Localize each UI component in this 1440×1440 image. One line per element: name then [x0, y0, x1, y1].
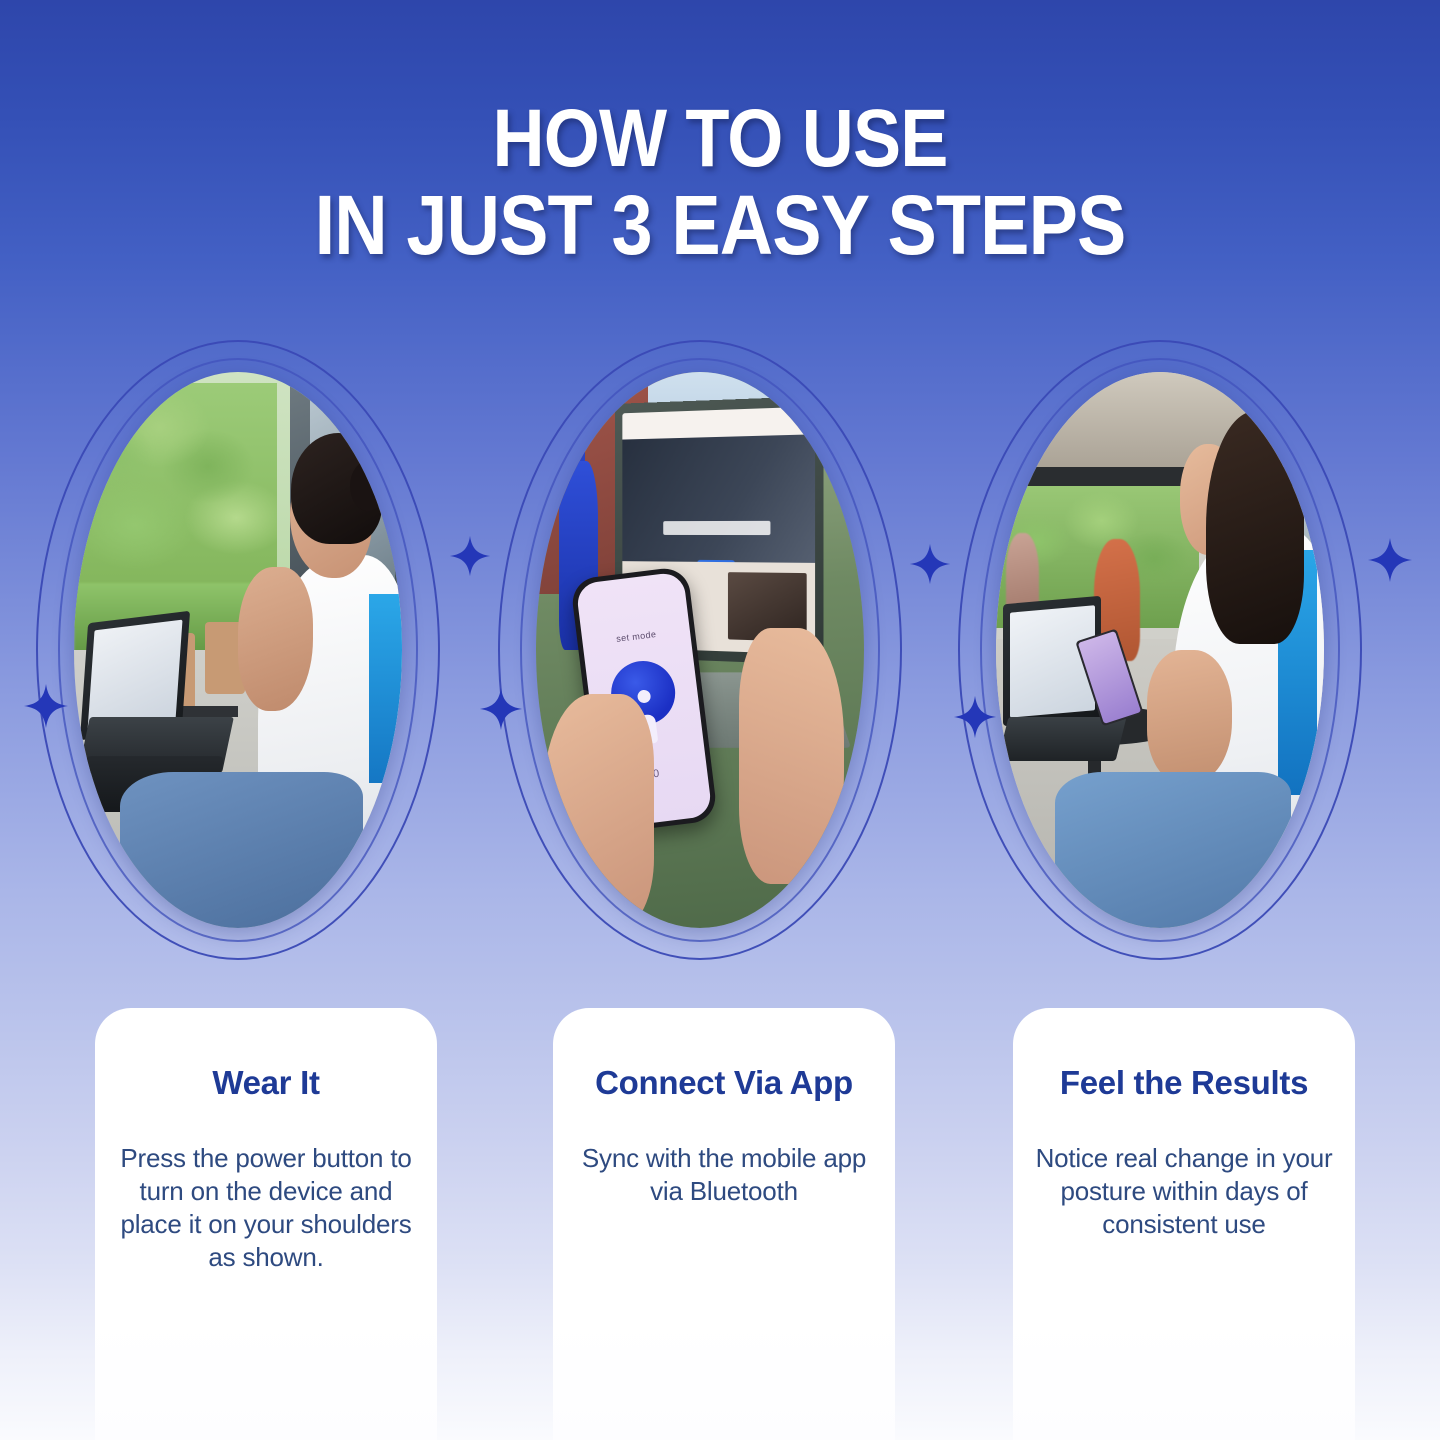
step-card-3-title: Feel the Results [1031, 1064, 1337, 1102]
step-2-photo: set mode 10 [536, 372, 864, 928]
step-card-1-body: Press the power button to turn on the de… [113, 1142, 419, 1274]
page-title-line-1: HOW TO USE [86, 96, 1353, 182]
steps-card-row: Wear It Press the power button to turn o… [0, 1008, 1440, 1440]
photo-person-jeans [1055, 772, 1291, 928]
photo-frame-step-3 [958, 340, 1362, 960]
photo-site-hero-text [664, 521, 771, 536]
photo-person-arm [238, 567, 313, 712]
photo-right-hand [739, 628, 844, 884]
four-point-sparkle-icon [448, 534, 492, 578]
step-3-photo [996, 372, 1324, 928]
photo-person-jeans [120, 772, 363, 928]
photo-phone-screen-label: set mode [582, 625, 690, 648]
step-1-photo [74, 372, 402, 928]
page-title-line-2: IN JUST 3 EASY STEPS [86, 182, 1353, 268]
step-card-2-body: Sync with the mobile app via Bluetooth [571, 1142, 877, 1208]
photo-person-hair [1206, 411, 1304, 645]
page-title: HOW TO USE IN JUST 3 EASY STEPS [0, 96, 1440, 268]
photo-scene-phone-app: set mode 10 [536, 372, 864, 928]
step-card-2-title: Connect Via App [571, 1064, 877, 1102]
photo-left-hand [543, 694, 655, 928]
photo-person-arm [1147, 650, 1232, 783]
photo-frame-step-1 [36, 340, 440, 960]
four-point-sparkle-icon [952, 694, 998, 740]
photo-shirt-graphic [369, 594, 402, 783]
step-card-3-body: Notice real change in your posture withi… [1031, 1142, 1337, 1241]
step-card-2: Connect Via App Sync with the mobile app… [553, 1008, 895, 1440]
step-card-3: Feel the Results Notice real change in y… [1013, 1008, 1355, 1440]
photo-person-hair-bun [350, 461, 386, 511]
four-point-sparkle-icon [22, 682, 70, 730]
four-point-sparkle-icon [1366, 536, 1414, 584]
four-point-sparkle-icon [908, 542, 952, 586]
four-point-sparkle-icon [478, 686, 524, 732]
photo-scene-cafe-results [996, 372, 1324, 928]
photo-site-hero [623, 434, 815, 563]
step-card-1-title: Wear It [113, 1064, 419, 1102]
photo-laptop-screen [87, 619, 181, 730]
photo-frame-step-2: set mode 10 [498, 340, 902, 960]
photo-scene-cafe-neck [74, 372, 402, 928]
step-card-1: Wear It Press the power button to turn o… [95, 1008, 437, 1440]
